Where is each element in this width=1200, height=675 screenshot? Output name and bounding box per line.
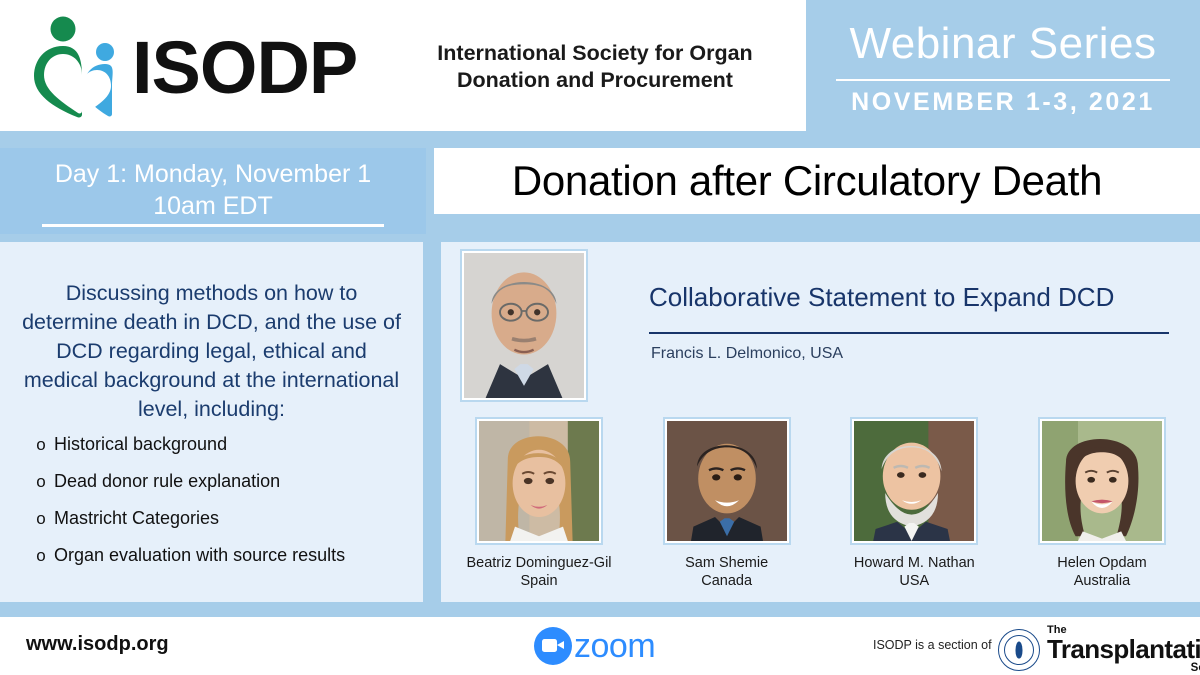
speakers-panel: Collaborative Statement to Expand DCD Fr… [441, 242, 1200, 602]
session-topic-list: o Historical background o Dead donor rul… [28, 432, 418, 580]
isodp-wordmark: ISODP [132, 28, 357, 108]
list-item: o Historical background [28, 432, 418, 457]
portrait-illustration [479, 421, 599, 541]
list-item-label: Organ evaluation with source results [54, 543, 345, 567]
keynote-divider [649, 332, 1169, 334]
zoom-camera-icon [534, 627, 572, 665]
session-description: Discussing methods on how to determine d… [20, 279, 403, 424]
isodp-heart-figures-logo-icon [32, 16, 138, 120]
transplantation-society-logo: The Transplantation Society [998, 625, 1200, 674]
portrait-illustration [667, 421, 787, 541]
tts-main-label: Transplantation [1047, 636, 1200, 662]
organization-name: International Society for Organ Donation… [405, 40, 785, 94]
portrait-illustration [1042, 421, 1162, 541]
poster-header: ISODP International Society for Organ Do… [0, 0, 1200, 131]
bullet-circle-icon: o [28, 507, 54, 531]
zoom-logo: zoom [534, 627, 655, 665]
day-banner-line2: 10am EDT [0, 190, 426, 222]
webinar-poster: ISODP International Society for Organ Do… [0, 0, 1200, 675]
day-banner: Day 1: Monday, November 1 10am EDT [0, 148, 426, 234]
panelist-grid: Beatriz Dominguez-Gil Spain [453, 417, 1188, 590]
list-item: o Organ evaluation with source results [28, 543, 418, 568]
list-item-label: Mastricht Categories [54, 506, 219, 530]
panelist-country: USA [828, 572, 1000, 590]
poster-footer: www.isodp.org zoom ISODP is a section of… [0, 617, 1200, 675]
bullet-circle-icon: o [28, 470, 54, 494]
panelist-photo [850, 417, 978, 545]
society-seal-icon [998, 629, 1040, 671]
zoom-wordmark: zoom [574, 627, 655, 665]
panelist-photo [1038, 417, 1166, 545]
list-item-label: Dead donor rule explanation [54, 469, 280, 493]
day-banner-text: Day 1: Monday, November 1 10am EDT [0, 158, 426, 222]
panelist-name: Howard M. Nathan [828, 554, 1000, 572]
portrait-illustration [464, 253, 584, 398]
portrait-illustration [854, 421, 974, 541]
day-banner-line1: Day 1: Monday, November 1 [0, 158, 426, 190]
panelist-country: Spain [453, 572, 625, 590]
list-item: o Mastricht Categories [28, 506, 418, 531]
bullet-circle-icon: o [28, 433, 54, 457]
panelist-card: Helen Opdam Australia [1016, 417, 1188, 590]
isodp-logo: ISODP [32, 16, 392, 116]
keynote-talk-title: Collaborative Statement to Expand DCD [649, 280, 1171, 314]
bullet-circle-icon: o [28, 544, 54, 568]
panelist-photo [475, 417, 603, 545]
webinar-dates: NOVEMBER 1-3, 2021 [806, 88, 1200, 117]
list-item-label: Historical background [54, 432, 227, 456]
panelist-photo [663, 417, 791, 545]
panelist-name: Beatriz Dominguez-Gil [453, 554, 625, 572]
panelist-country: Canada [641, 572, 813, 590]
session-description-panel: Discussing methods on how to determine d… [0, 242, 423, 602]
panelist-card: Howard M. Nathan USA [828, 417, 1000, 590]
session-title-band: Donation after Circulatory Death [434, 148, 1200, 214]
page-title: Donation after Circulatory Death [434, 154, 1180, 208]
day-banner-divider [42, 224, 384, 227]
website-url[interactable]: www.isodp.org [26, 633, 169, 656]
webinar-series-title: Webinar Series [806, 18, 1200, 70]
panelist-country: Australia [1016, 572, 1188, 590]
webinar-divider [836, 79, 1170, 81]
panelist-card: Beatriz Dominguez-Gil Spain [453, 417, 625, 590]
keynote-speaker-name: Francis L. Delmonico, USA [651, 343, 843, 365]
webinar-series-band: Webinar Series NOVEMBER 1-3, 2021 [806, 0, 1200, 131]
panelist-name: Sam Shemie [641, 554, 813, 572]
panelist-name: Helen Opdam [1016, 554, 1188, 572]
panelist-card: Sam Shemie Canada [641, 417, 813, 590]
list-item: o Dead donor rule explanation [28, 469, 418, 494]
keynote-speaker-photo [460, 249, 588, 402]
section-note: ISODP is a section of [873, 638, 992, 652]
